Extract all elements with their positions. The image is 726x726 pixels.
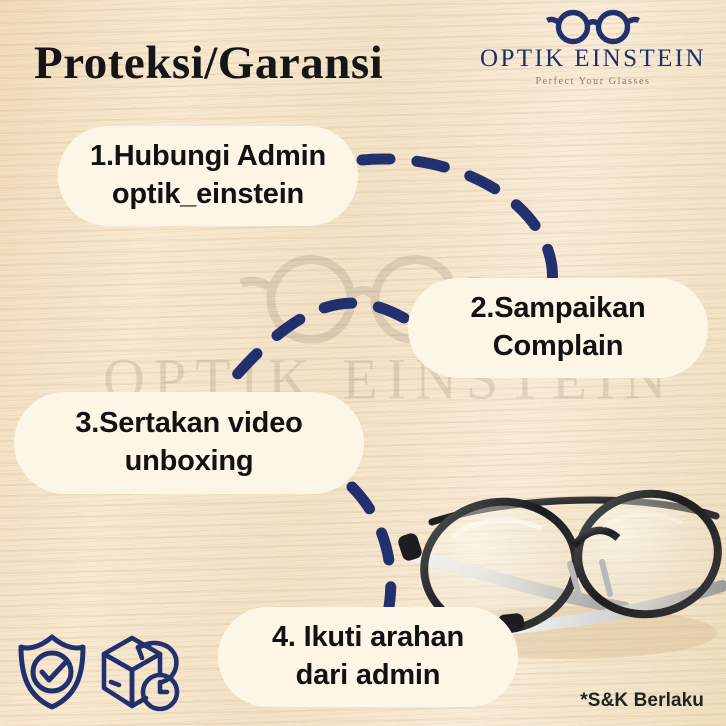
step-bubble-1[interactable]: 1.Hubungi Adminoptik_einstein [58,126,358,226]
shield-check-icon [16,632,88,712]
eyeglasses-icon [545,8,641,46]
return-box-clock-icon [98,630,184,712]
footer-icon-group [16,630,184,712]
page-title: Proteksi/Garansi [34,36,383,90]
brand-logo: OPTIK EINSTEIN Perfect Your Glasses [478,8,708,87]
step-bubble-1-text: 1.Hubungi Adminoptik_einstein [90,138,326,213]
step-bubble-3[interactable]: 3.Sertakan videounboxing [14,392,364,494]
connector-arc-2-to-3 [228,303,404,385]
step-bubble-3-text: 3.Sertakan videounboxing [75,405,302,480]
step-bubble-4-text: 4. Ikuti arahandari admin [272,619,464,694]
step-bubble-2-text: 2.SampaikanComplain [470,290,645,365]
brand-tagline: Perfect Your Glasses [478,76,708,87]
connector-arc-3-to-4 [352,487,391,625]
step-bubble-2[interactable]: 2.SampaikanComplain [408,278,708,378]
brand-name: OPTIK EINSTEIN [478,45,708,73]
connector-arc-1-to-2 [362,159,552,285]
step-bubble-4[interactable]: 4. Ikuti arahandari admin [218,607,518,707]
terms-note: *S&K Berlaku [580,690,704,712]
poster-canvas: OPTIK EINSTEIN Proteksi/Garansi OPTIK EI… [0,0,726,726]
